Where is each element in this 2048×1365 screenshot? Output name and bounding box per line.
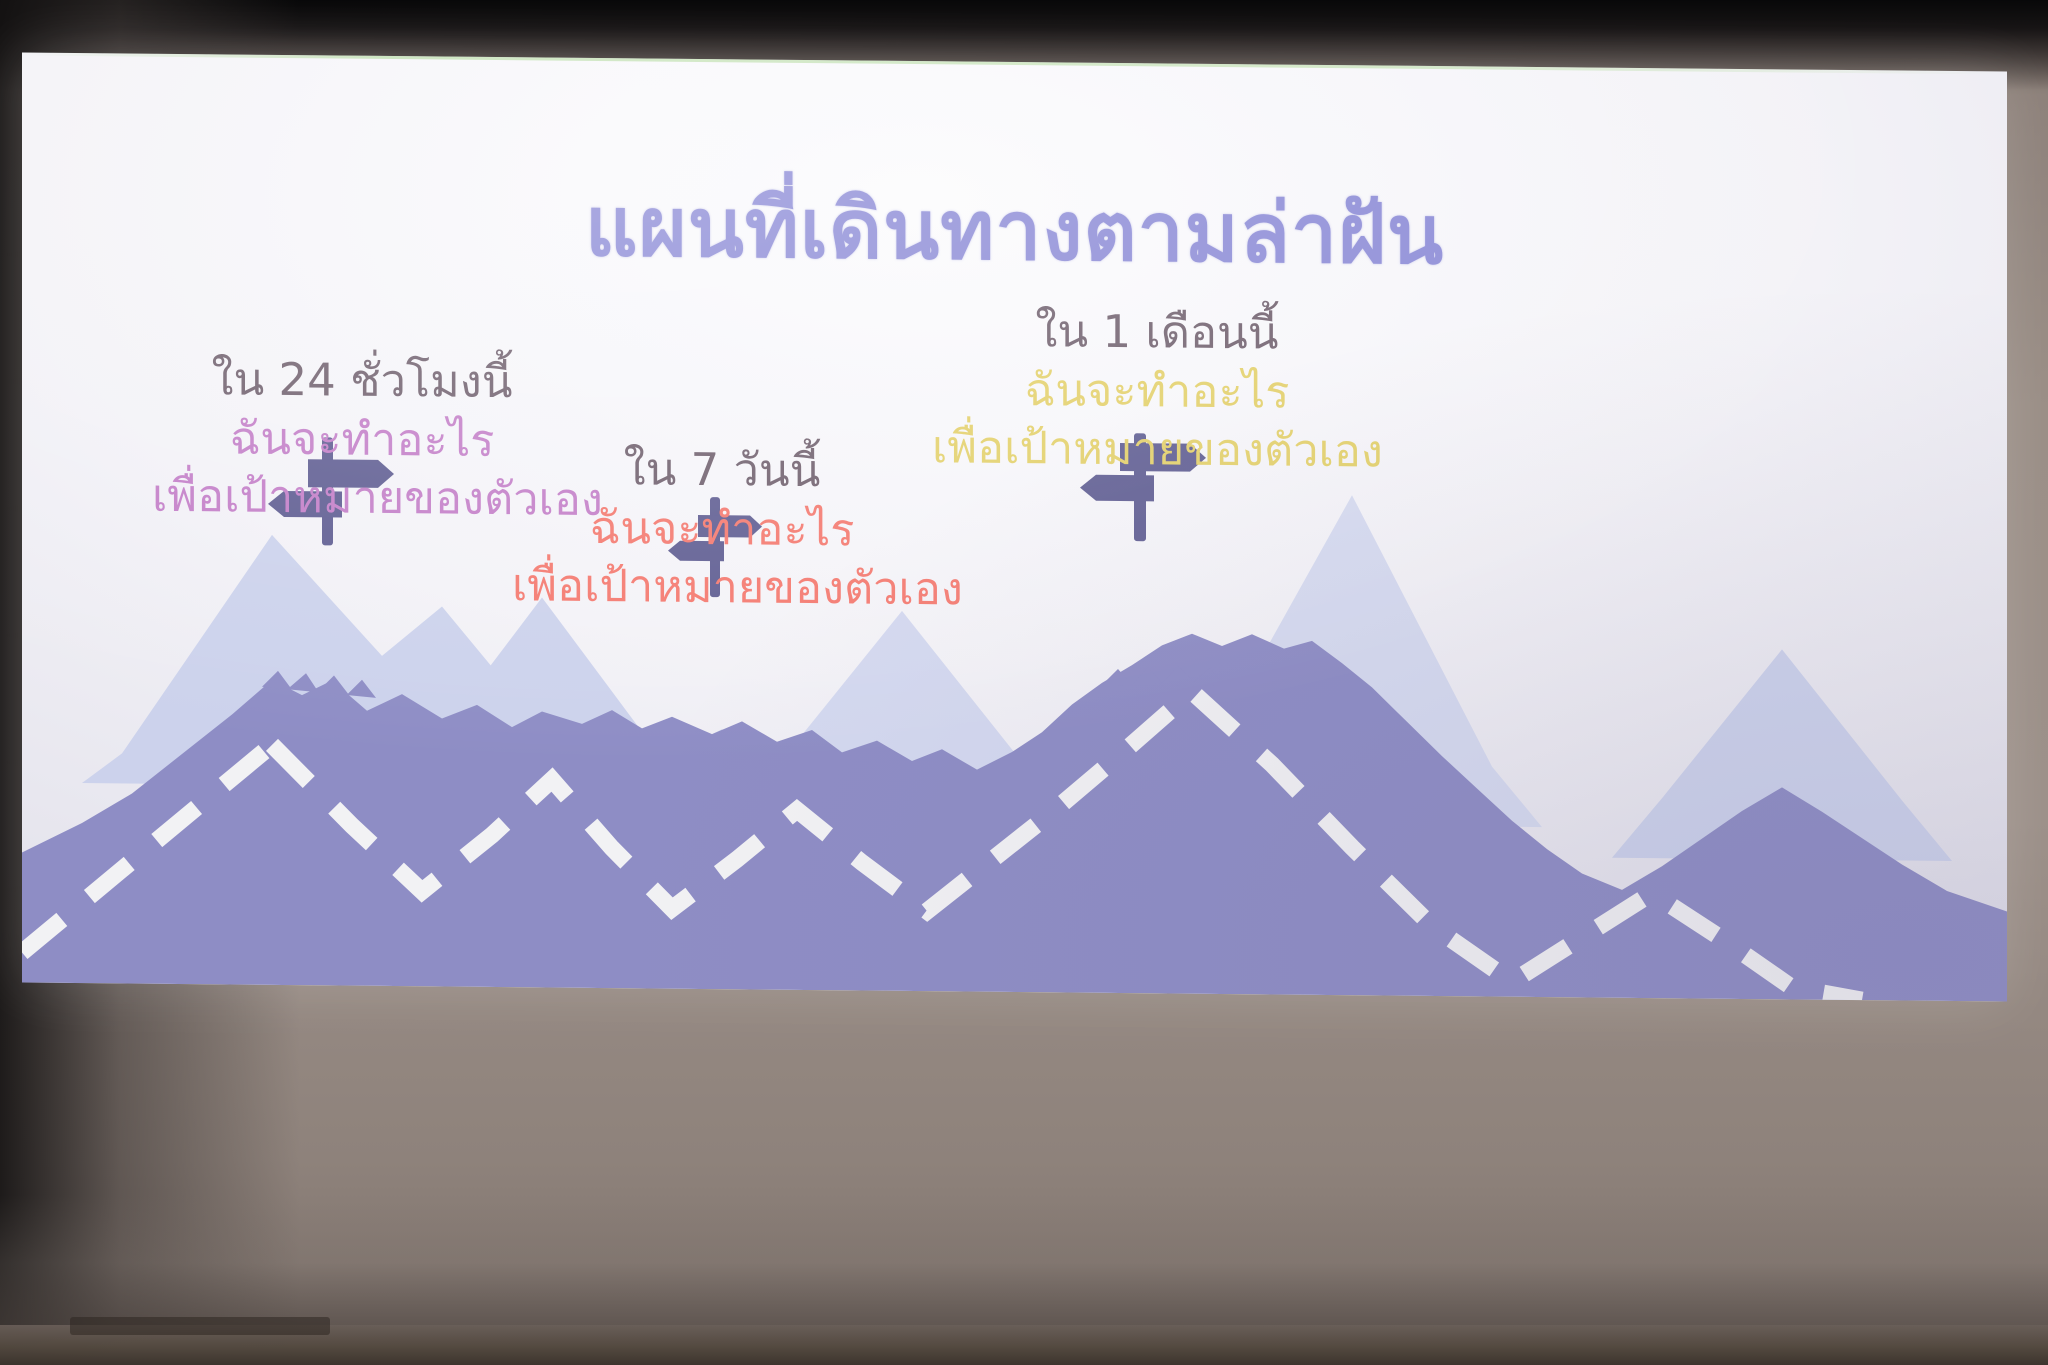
block-24h-heading: ใน 24 ชั่วโมงนี้: [152, 350, 572, 413]
page-title: แผนที่เดินทางตามล่าฝัน: [22, 156, 2007, 305]
text-block-24h: ใน 24 ชั่วโมงนี้ ฉันจะทำอะไร เพื่อเป้าหม…: [152, 350, 572, 530]
presentation-slide: แผนที่เดินทางตามล่าฝัน ใน 24 ชั่วโมงนี้ …: [22, 52, 2007, 1001]
block-7d-heading: ใน 7 วันนี้: [512, 439, 932, 502]
projector-edge-line: [22, 52, 2007, 74]
block-1m-heading: ใน 1 เดือนนี้: [932, 301, 1382, 364]
projector-photo: แผนที่เดินทางตามล่าฝัน ใน 24 ชั่วโมงนี้ …: [0, 0, 2048, 1365]
text-block-1m: ใน 1 เดือนนี้ ฉันจะทำอะไร เพื่อเป้าหมายข…: [932, 301, 1382, 481]
baseboard-notch: [70, 1317, 330, 1335]
block-24h-line3: เพื่อเป้าหมายของตัวเอง: [152, 467, 572, 530]
baseboard: [0, 1325, 2048, 1365]
text-block-7d: ใน 7 วันนี้ ฉันจะทำอะไร เพื่อเป้าหมายของ…: [512, 439, 932, 619]
block-7d-line2: ฉันจะทำอะไร: [512, 498, 932, 561]
block-7d-line3: เพื่อเป้าหมายของตัวเอง: [512, 556, 932, 619]
block-24h-line2: ฉันจะทำอะไร: [152, 408, 572, 471]
wall-shadow-bottom: [0, 1195, 2048, 1365]
block-1m-line2: ฉันจะทำอะไร: [932, 360, 1382, 423]
block-1m-line3: เพื่อเป้าหมายของตัวเอง: [932, 418, 1382, 481]
